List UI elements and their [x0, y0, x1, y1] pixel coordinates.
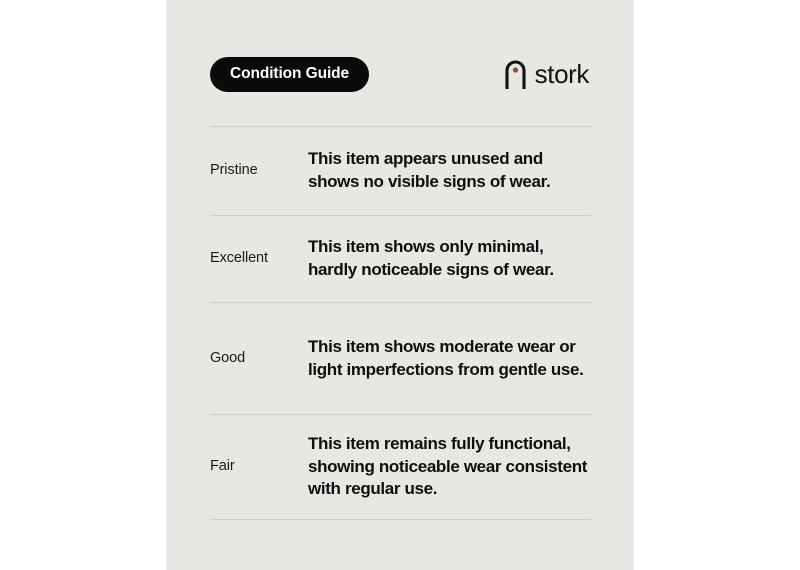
condition-label: Good — [210, 350, 308, 367]
table-divider-bottom — [210, 519, 591, 520]
condition-guide-card: Condition Guide stork Pristine This item… — [166, 0, 634, 570]
condition-label: Pristine — [210, 162, 308, 179]
stork-wordmark: stork — [535, 61, 589, 87]
stork-arch-mark-icon — [504, 59, 527, 89]
table-row: Fair This item remains fully functional,… — [210, 415, 591, 519]
card-header: Condition Guide stork — [210, 56, 591, 92]
condition-label: Excellent — [210, 250, 308, 267]
table-row: Excellent This item shows only minimal, … — [210, 216, 591, 302]
condition-description: This item shows moderate wear or light i… — [308, 336, 591, 381]
page-root: Condition Guide stork Pristine This item… — [0, 0, 800, 570]
stork-brand-logo: stork — [504, 59, 591, 89]
table-row: Good This item shows moderate wear or li… — [210, 303, 591, 414]
condition-table: Pristine This item appears unused and sh… — [210, 126, 591, 520]
condition-description: This item appears unused and shows no vi… — [308, 148, 591, 193]
condition-guide-badge: Condition Guide — [210, 57, 369, 92]
condition-description: This item shows only minimal, hardly not… — [308, 236, 591, 281]
condition-description: This item remains fully functional, show… — [308, 433, 591, 501]
condition-label: Fair — [210, 458, 308, 475]
table-row: Pristine This item appears unused and sh… — [210, 127, 591, 215]
